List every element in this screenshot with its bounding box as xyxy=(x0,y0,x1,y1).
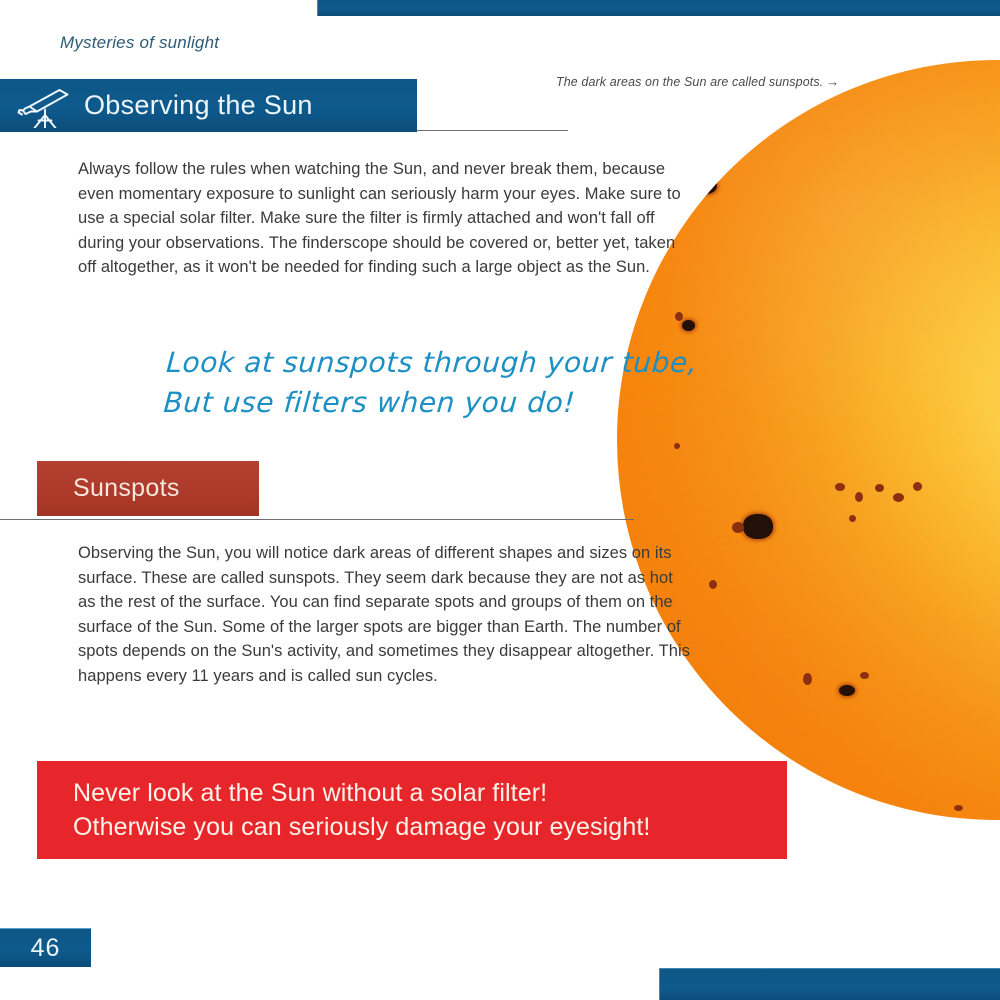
figure-caption: The dark areas on the Sun are called sun… xyxy=(556,74,839,89)
rhyme-line-2: But use filters when you do! xyxy=(162,383,696,423)
sunspot xyxy=(682,320,695,331)
paragraph-sunspots: Observing the Sun, you will notice dark … xyxy=(78,541,690,688)
warning-line-2: Otherwise you can seriously damage your … xyxy=(73,810,787,844)
subsection-header-rule xyxy=(0,519,634,520)
subsection-title: Sunspots xyxy=(73,474,180,503)
page-number: 46 xyxy=(31,934,61,963)
sunspot xyxy=(803,673,812,685)
running-head: Mysteries of sunlight xyxy=(60,33,219,53)
sunspot xyxy=(732,522,744,533)
warning-line-1: Never look at the Sun without a solar fi… xyxy=(73,776,787,810)
page-number-box: 46 xyxy=(0,928,91,967)
sunspot xyxy=(709,580,717,589)
warning-box: Never look at the Sun without a solar fi… xyxy=(37,761,787,859)
rhyme-line-1: Look at sunspots through your tube, xyxy=(165,343,699,383)
figure-caption-text: The dark areas on the Sun are called sun… xyxy=(556,75,823,89)
sunspot xyxy=(860,672,869,679)
sunspot xyxy=(696,178,717,194)
rhyme-block: Look at sunspots through your tube, But … xyxy=(162,343,699,423)
sunspot xyxy=(689,192,698,209)
section-title: Observing the Sun xyxy=(84,90,313,121)
telescope-icon xyxy=(14,84,78,128)
decorative-bar-bottom xyxy=(659,968,1000,1000)
arrow-right-icon: → xyxy=(826,74,839,89)
sunspot xyxy=(743,514,773,539)
sunspot xyxy=(954,805,963,811)
book-page: Mysteries of sunlight Observing the Sun xyxy=(0,0,1000,1000)
paragraph-sunspots-text: Observing the Sun, you will notice dark … xyxy=(78,541,690,688)
paragraph-intro: Always follow the rules when watching th… xyxy=(78,157,688,280)
section-header-observing-the-sun: Observing the Sun xyxy=(0,79,417,132)
sunspot xyxy=(839,685,855,696)
paragraph-intro-text: Always follow the rules when watching th… xyxy=(78,157,688,280)
sunspot xyxy=(675,312,683,321)
decorative-bar-top xyxy=(317,0,1000,16)
sunspot xyxy=(674,443,680,449)
section-header-rule xyxy=(417,130,568,131)
subsection-header-sunspots: Sunspots xyxy=(37,461,259,516)
